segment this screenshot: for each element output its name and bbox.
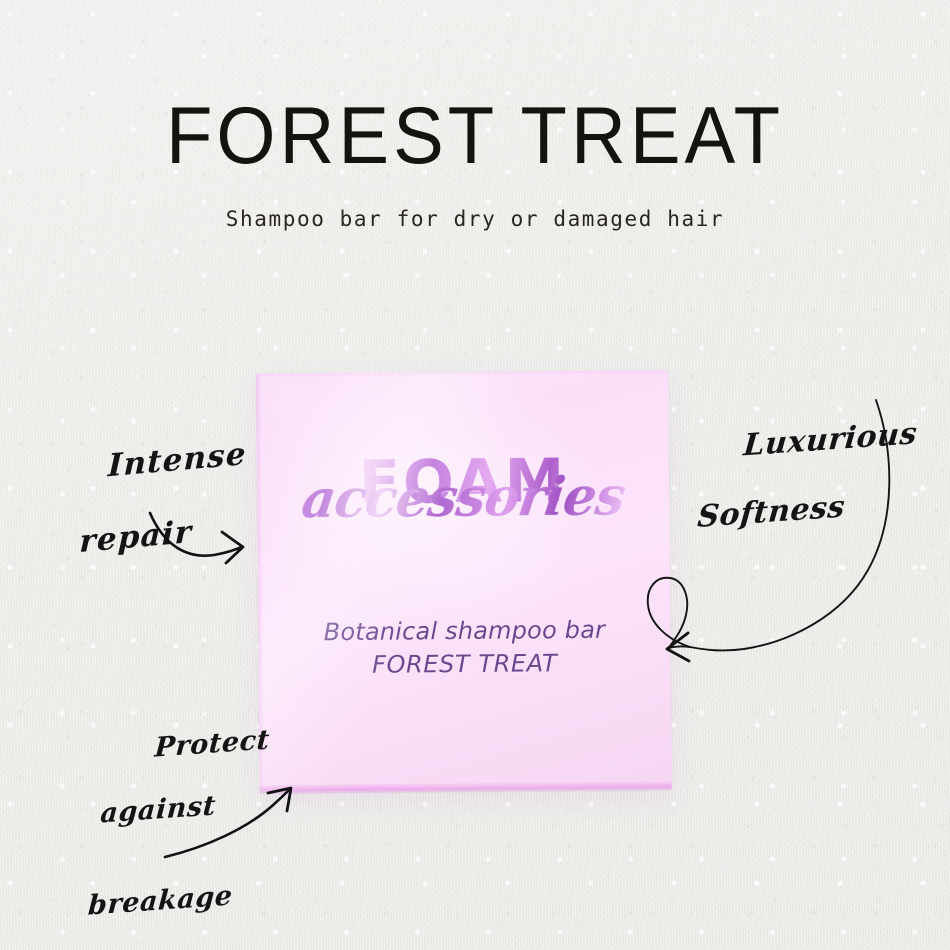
annotation-protect-line-1: Protect xyxy=(154,725,271,764)
product-package: FOAM accessories Botanical shampoo bar F… xyxy=(256,370,672,792)
annotation-intense-repair-line-1: Intense xyxy=(107,436,247,484)
brand-script-accessories: accessories xyxy=(254,470,673,527)
package-face xyxy=(256,370,672,792)
annotation-luxurious-softness-line-2: Softness xyxy=(696,485,913,534)
annotation-luxurious-softness: Luxurious Softness xyxy=(686,383,921,603)
annotation-protect-line-2: against xyxy=(99,788,266,830)
headline-block: FOREST TREAT Shampoo bar for dry or dama… xyxy=(0,96,950,231)
product-promo-image: FOREST TREAT Shampoo bar for dry or dama… xyxy=(0,0,950,950)
brand-logo: FOAM accessories xyxy=(257,450,670,540)
annotation-protect-against-breakage: Protect against breakage xyxy=(99,695,273,950)
annotation-intense-repair-line-2: repair xyxy=(79,511,245,560)
annotation-intense-repair: Intense repair xyxy=(55,402,249,632)
package-description: Botanical shampoo bar FOREST TREAT xyxy=(258,615,671,680)
annotation-luxurious-softness-line-1: Luxurious xyxy=(742,416,919,463)
page-subtitle: Shampoo bar for dry or damaged hair xyxy=(0,207,950,231)
package-description-line-1: Botanical shampoo bar xyxy=(258,615,670,647)
page-title: FOREST TREAT xyxy=(0,96,950,177)
package-description-line-2: FOREST TREAT xyxy=(259,648,671,680)
annotation-protect-line-3: breakage xyxy=(87,880,260,922)
